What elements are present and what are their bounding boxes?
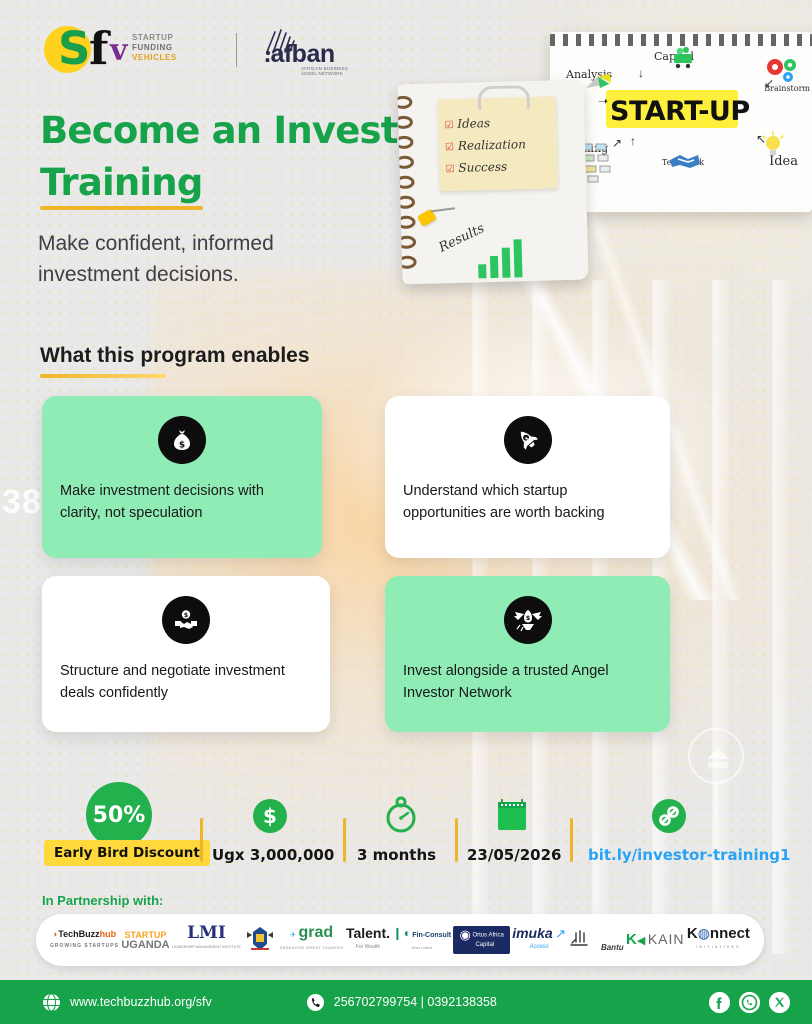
benefit-card-2[interactable]: $ Understand which startup opportunities… <box>385 396 670 558</box>
results-bar-chart <box>477 237 522 278</box>
x-icon[interactable] <box>769 992 790 1013</box>
sfv-logo: S f v STARTUP FUNDING VEHICLES <box>44 24 214 76</box>
partner-logo-fin-consult: ❙◖ Fin-Consult Africa Limited <box>392 928 451 953</box>
partner-logo-bantu: Bantu <box>568 928 623 953</box>
dollar-circle-icon: $ <box>252 798 288 834</box>
footer-bar: www.techbuzzhub.org/sfv 256702799754 | 0… <box>0 980 812 1024</box>
early-bird-label: Early Bird Discount <box>44 840 210 866</box>
partner-logo-imuka-access: imuka ↗ Access <box>512 928 566 952</box>
benefit-card-3-text: Structure and negotiate investment deals… <box>60 660 312 704</box>
partner-logo-lmi: LMI LEADERSHIP MANAGEMENT INSTITUTE <box>172 928 241 952</box>
partner-logo-grad: ✈ grad ENDEAVOR GREAT LEADERS <box>280 928 344 953</box>
section-title-underline <box>40 374 166 378</box>
calendar-icon <box>494 796 530 834</box>
hero-illustration: START-UP Analysis Capital Brainstorm Pla… <box>392 22 812 292</box>
globe-icon <box>42 993 61 1012</box>
partner-logo-kain: K◀ KAIN <box>626 934 685 946</box>
footer-phone-text: 256702799754 | 0392138358 <box>334 995 497 1009</box>
footer-phone[interactable]: 256702799754 | 0392138358 <box>306 993 497 1012</box>
footer-socials <box>709 992 790 1013</box>
sfv-logo-letter-f: f <box>89 25 108 73</box>
winged-money-bag-icon: $ <box>504 596 552 644</box>
partner-logo-startup-uganda: STARTUPUGANDA <box>121 930 169 950</box>
benefit-card-4-text: Invest alongside a trusted Angel Investo… <box>403 660 652 704</box>
whiteboard-arrow-leftup: ↙ <box>764 76 774 90</box>
shopping-cart-money-icon <box>668 44 698 70</box>
benefit-card-1[interactable]: $ Make investment decisions with clarity… <box>42 396 322 558</box>
footer-website-text: www.techbuzzhub.org/sfv <box>70 995 212 1009</box>
paperclip-icon <box>477 85 530 112</box>
partner-logo-konnect: K◍nnect INITIATIVES <box>687 928 750 952</box>
sfv-logo-letter-s: S <box>58 25 90 73</box>
sfv-word-funding: FUNDING <box>132 43 177 53</box>
logo-divider <box>236 33 237 67</box>
strip-divider-2 <box>343 818 346 862</box>
benefit-card-4[interactable]: $ Invest alongside a trusted Angel Inves… <box>385 576 670 732</box>
spiral-binding-icon <box>397 90 418 284</box>
facebook-icon[interactable] <box>709 992 730 1013</box>
page-title: Become an Investor Training <box>40 105 440 209</box>
duration-label: 3 months <box>357 846 436 864</box>
whatsapp-icon[interactable] <box>739 992 760 1013</box>
benefit-card-3[interactable]: $ Structure and negotiate investment dea… <box>42 576 330 732</box>
whiteboard-arrow-up: ↑ <box>630 134 636 148</box>
svg-text:$: $ <box>525 614 530 622</box>
handshake-dollar-icon: $ <box>162 596 210 644</box>
headline-underline <box>40 206 203 210</box>
watermark-number: 38 <box>2 483 42 522</box>
strip-divider-3 <box>455 818 458 862</box>
headline-line-1: Become an Investor <box>40 109 440 152</box>
whiteboard-center-text: START-UP <box>610 96 750 127</box>
whiteboard-arrow-down: ↓ <box>638 66 644 80</box>
headline-line-2: Training <box>40 161 203 204</box>
link-circle-icon[interactable] <box>651 798 687 834</box>
whiteboard-arrow-right: ➝ <box>598 94 608 108</box>
money-bag-icon: $ <box>158 416 206 464</box>
stopwatch-icon <box>382 794 420 834</box>
info-strip: 50% Early Bird Discount $ Ugx 3,000,000 … <box>0 780 812 872</box>
partner-logo-techbuzzhub: ◗TechBuzzhub GROWING STARTUPS <box>50 929 119 951</box>
afban-subtitle: AFRICAN BUSINESS ANGEL NETWORK <box>301 66 355 76</box>
sfv-word-startup: STARTUP <box>132 33 177 43</box>
poster-canvas: 38 S f v STARTUP FUNDING VEHICLES . <box>0 0 812 1024</box>
benefit-card-2-text: Understand which startup opportunities a… <box>403 480 652 524</box>
date-label: 23/05/2026 <box>467 846 561 864</box>
partners-title: In Partnership with: <box>42 893 163 908</box>
checklist-item-1: ☑ Ideas <box>444 116 490 131</box>
partner-logo-talent-for-wealth: Talent. For Wealth <box>346 928 390 952</box>
subheadline: Make confident, informed investment deci… <box>38 228 368 290</box>
benefit-card-1-text: Make investment decisions with clarity, … <box>60 480 304 524</box>
notepad-image: ☑ Ideas ☑ Realization ☑ Success Results <box>397 80 588 285</box>
checklist-item-2: ☑ Realization <box>445 137 526 153</box>
sfv-logo-letter-v: v <box>110 34 127 68</box>
whiteboard-arrow-upright: ↗ <box>612 136 622 150</box>
svg-text:$: $ <box>263 804 277 828</box>
registration-link[interactable]: bit.ly/investor-training1 <box>588 846 790 864</box>
handshake-icon <box>668 150 702 172</box>
checklist-item-3: ☑ Success <box>445 160 507 176</box>
afban-logo: .afban AFRICAN BUSINESS ANGEL NETWORK <box>259 26 355 74</box>
logo-row: S f v STARTUP FUNDING VEHICLES .afban AF… <box>44 24 355 76</box>
partner-logo-ortus-africa-capital: ◉ Ortus AfricaCapital <box>453 926 509 955</box>
rocket-dollar-icon: $ <box>504 416 552 464</box>
discount-badge-circle: 50% <box>86 782 152 848</box>
price-label: Ugx 3,000,000 <box>212 846 334 864</box>
afban-wordmark: .afban <box>264 40 335 69</box>
strip-divider-4 <box>570 818 573 862</box>
svg-text:$: $ <box>184 612 188 619</box>
partners-logo-bar: ◗TechBuzzhub GROWING STARTUPS STARTUPUGA… <box>36 914 764 966</box>
whiteboard-image: START-UP Analysis Capital Brainstorm Pla… <box>550 32 812 212</box>
section-title: What this program enables <box>40 344 310 368</box>
whiteboard-arrow-upleft: ↖ <box>756 132 766 146</box>
pie-chart-icon <box>582 68 614 94</box>
phone-icon <box>306 993 325 1012</box>
strip-divider-1 <box>200 818 203 862</box>
push-pin-icon <box>417 209 437 227</box>
sfv-word-vehicles: VEHICLES <box>132 53 177 63</box>
footer-website[interactable]: www.techbuzzhub.org/sfv <box>42 993 212 1012</box>
sfv-logo-wordmark: STARTUP FUNDING VEHICLES <box>132 33 177 63</box>
partner-logo-makerere <box>243 924 277 956</box>
watermark-arrow-circle-icon <box>688 728 744 784</box>
svg-text:$: $ <box>179 441 185 451</box>
